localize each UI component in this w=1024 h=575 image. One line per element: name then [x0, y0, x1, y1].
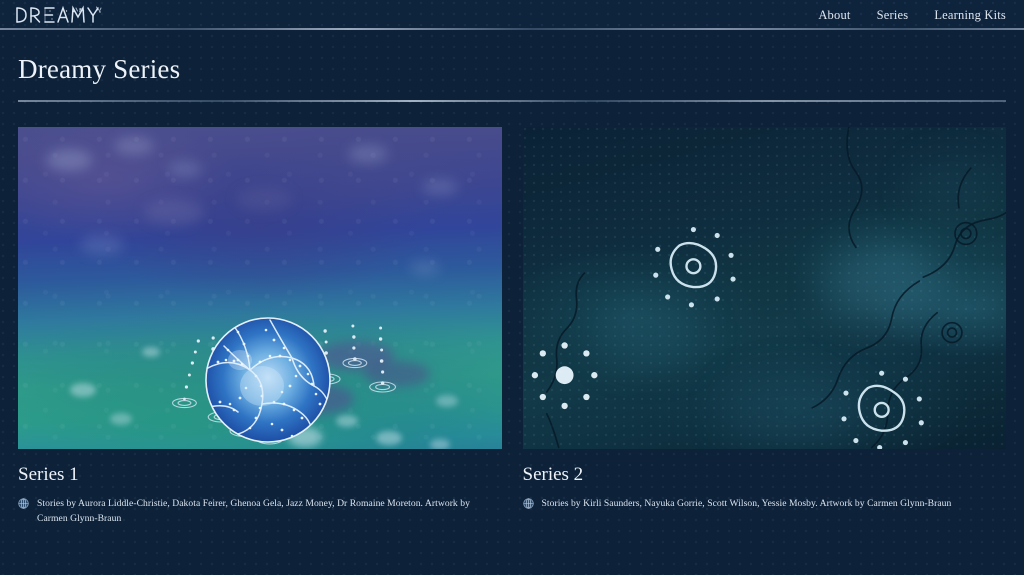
series-2-title: Series 2	[523, 465, 1007, 486]
site-header: About Series Learning Kits	[0, 0, 1024, 30]
series-2-artwork[interactable]	[523, 127, 1007, 449]
eye-motif-top	[653, 227, 735, 307]
series-1-credit: Stories by Aurora Liddle-Christie, Dakot…	[18, 497, 502, 527]
series-2-credit-text: Stories by Kirli Saunders, Nayuka Gorrie…	[542, 497, 952, 512]
series-grid: Series 1 Stories by Aurora Liddle-Christ…	[0, 102, 1024, 527]
globe-icon	[18, 498, 29, 509]
main-navigation[interactable]: About Series Learning Kits	[818, 8, 1006, 23]
nav-item-series[interactable]: Series	[877, 8, 909, 23]
moon-motif	[204, 316, 332, 444]
nav-item-about[interactable]: About	[818, 8, 850, 23]
eye-motif-bottom	[841, 371, 923, 449]
dreamy-logo[interactable]	[14, 4, 114, 26]
series-1-artwork[interactable]	[18, 127, 502, 449]
series-2-credit: Stories by Kirli Saunders, Nayuka Gorrie…	[523, 497, 1007, 512]
page-header: Dreamy Series	[0, 30, 1024, 102]
nav-item-learning-kits[interactable]: Learning Kits	[934, 8, 1006, 23]
series-card-1[interactable]: Series 1 Stories by Aurora Liddle-Christ…	[18, 127, 502, 527]
page-title: Dreamy Series	[18, 56, 1006, 83]
series-card-2[interactable]: Series 2 Stories by Kirli Saunders, Nayu…	[523, 127, 1007, 527]
dreamy-logo-mark	[14, 4, 114, 26]
globe-icon	[523, 498, 534, 509]
dot-cluster-left	[531, 342, 597, 409]
series-1-credit-text: Stories by Aurora Liddle-Christie, Dakot…	[37, 497, 502, 527]
series-2-motifs	[523, 127, 1007, 449]
series-1-title: Series 1	[18, 465, 502, 486]
